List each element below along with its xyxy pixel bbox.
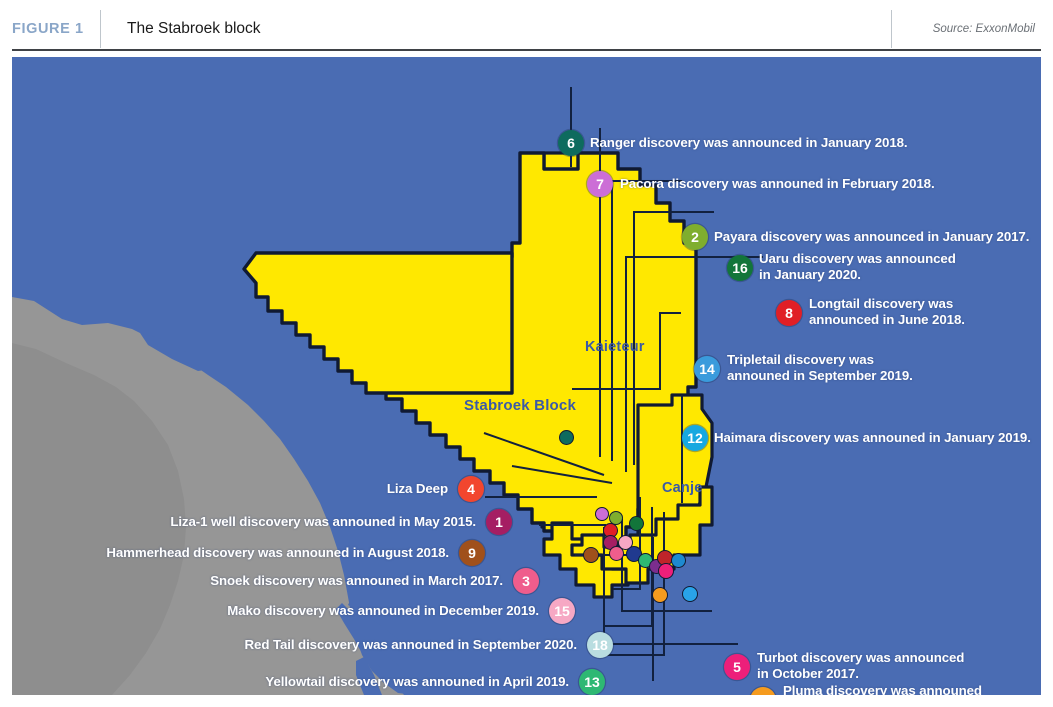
well-location-dot [652,587,668,603]
discovery-callout-2: Payara discovery was announced in Januar… [714,229,1029,245]
stabroek-block-map: Stabroek Block Kaieteur Canje 6Ranger di… [12,57,1041,695]
figure-page: FIGURE 1 The Stabroek block Source: Exxo… [0,0,1053,707]
well-location-dot [609,546,624,561]
discovery-callout-5: Turbot discovery was announced in Octobe… [757,650,964,681]
discovery-callout-12: Haimara discovery was announed in Januar… [714,430,1031,446]
area-label-canje: Canje [662,480,703,496]
well-location-dot [682,586,698,602]
discovery-badge-12[interactable]: 12 [682,425,708,451]
discovery-badge-6[interactable]: 6 [558,130,584,156]
discovery-callout-10: Pluma discovery was announed in December… [783,683,982,695]
discovery-badge-14[interactable]: 14 [694,356,720,382]
discovery-badge-9[interactable]: 9 [459,540,485,566]
discovery-badge-8[interactable]: 8 [776,300,802,326]
area-label-kaieteur: Kaieteur [585,339,645,355]
discovery-callout-9: Hammerhead discovery was announed in Aug… [106,545,449,561]
well-location-dot [629,516,644,531]
discovery-badge-16[interactable]: 16 [727,255,753,281]
discovery-callout-3: Snoek discovery was announed in March 20… [210,573,503,589]
page-title: The Stabroek block [100,10,891,48]
discovery-badge-2[interactable]: 2 [682,224,708,250]
well-location-dot [671,553,686,568]
discovery-badge-5[interactable]: 5 [724,654,750,680]
figure-header: FIGURE 1 The Stabroek block Source: Exxo… [12,10,1041,48]
discovery-badge-1[interactable]: 1 [486,509,512,535]
discovery-callout-18: Red Tail discovery was announed in Septe… [245,637,577,653]
source-credit: Source: ExxonMobil [891,10,1041,48]
discovery-badge-18[interactable]: 18 [587,632,613,658]
area-label-stabroek: Stabroek Block [464,397,576,414]
well-location-dot [559,430,574,445]
discovery-badge-3[interactable]: 3 [513,568,539,594]
discovery-badge-4[interactable]: 4 [458,476,484,502]
well-location-dot [595,507,609,521]
discovery-callout-13: Yellowtail discovery was announed in Apr… [265,674,569,690]
discovery-callout-1: Liza-1 well discovery was announed in Ma… [170,514,476,530]
well-location-dot [658,563,674,579]
header-divider [12,49,1041,51]
discovery-badge-7[interactable]: 7 [587,171,613,197]
discovery-callout-7: Pacora discovery was announed in Februar… [620,176,935,192]
discovery-callout-8: Longtail discovery was announced in June… [809,296,965,327]
discovery-callout-15: Mako discovery was announed in December … [227,603,539,619]
discovery-callout-16: Uaru discovery was announced in January … [759,251,956,282]
discovery-badge-13[interactable]: 13 [579,669,605,695]
discovery-callout-14: Tripletail discovery was announed in Sep… [727,352,913,383]
discovery-callout-6: Ranger discovery was announced in Januar… [590,135,908,151]
discovery-badge-15[interactable]: 15 [549,598,575,624]
figure-number-label: FIGURE 1 [12,10,100,48]
discovery-callout-4: Liza Deep [387,481,448,497]
well-location-dot [583,547,599,563]
